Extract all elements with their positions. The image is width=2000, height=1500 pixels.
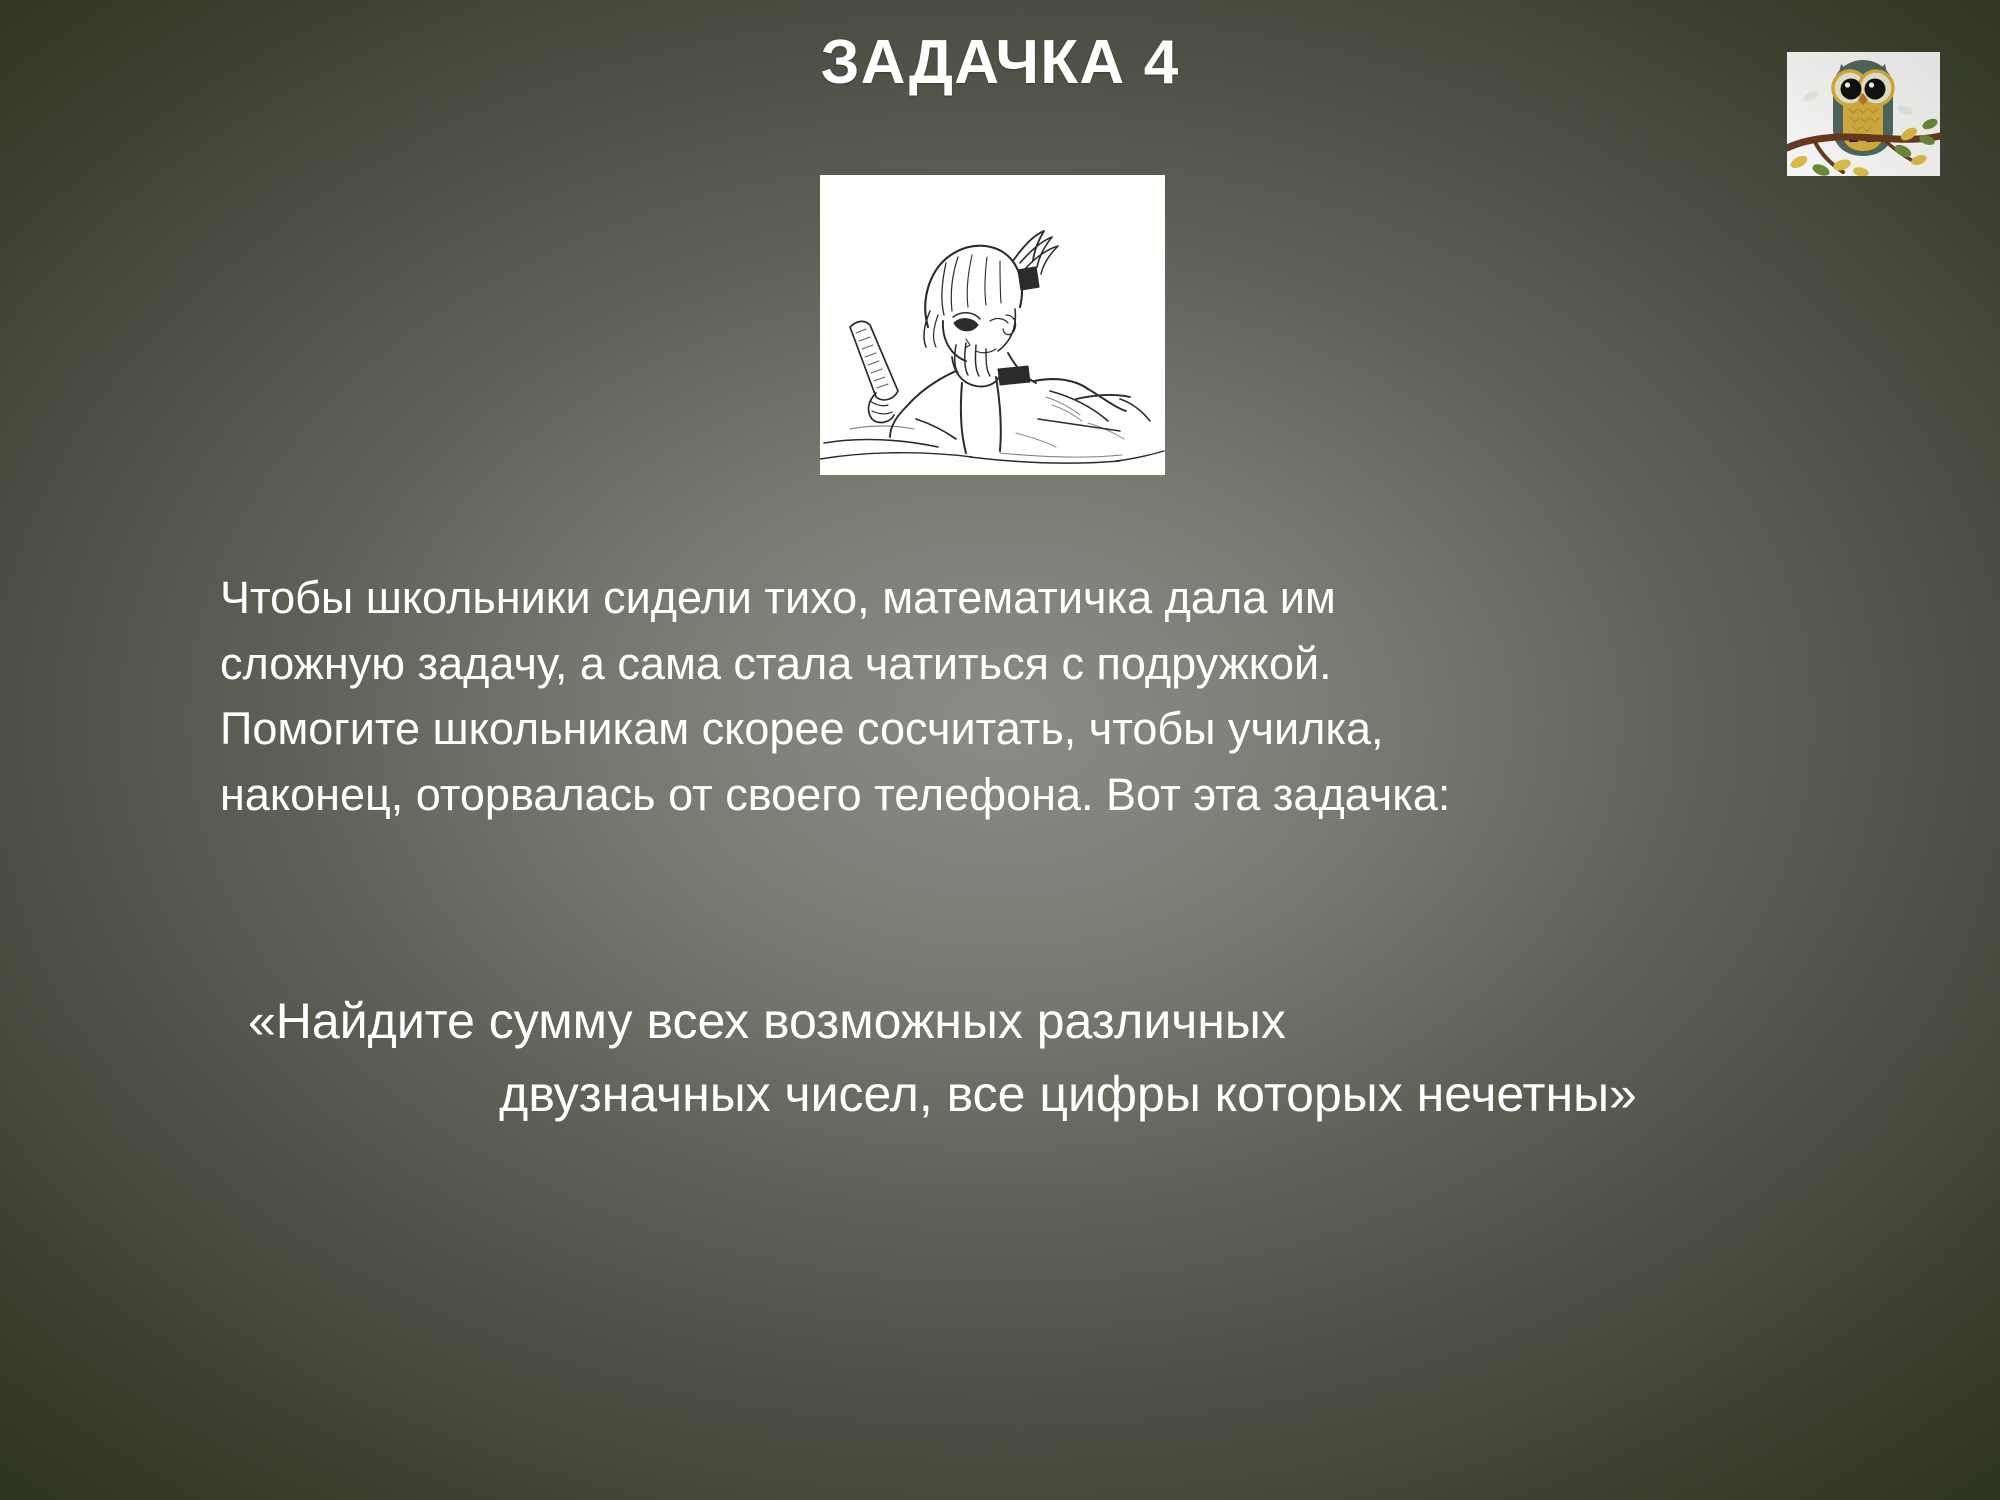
sketch-illustration [820, 175, 1165, 475]
slide-canvas: ЗАДАЧКА 4 [0, 0, 2000, 1500]
page-title: ЗАДАЧКА 4 [0, 30, 2000, 95]
girl-with-phone-sketch [820, 175, 1165, 475]
problem-quote: «Найдите сумму всех возможных различных … [248, 985, 1888, 1131]
body-paragraph: Чтобы школьники сидели тихо, математичка… [220, 565, 1910, 828]
owl-logo [1787, 52, 1940, 176]
quote-line-1: «Найдите сумму всех возможных различных [248, 985, 1888, 1058]
body-line-1: Чтобы школьники сидели тихо, математичка… [220, 565, 1910, 631]
owl-on-branch-icon [1787, 52, 1940, 176]
body-line-4: наконец, оторвалась от своего телефона. … [220, 762, 1910, 828]
quote-line-2: двузначных чисел, все цифры которых нече… [248, 1058, 1888, 1131]
body-line-2: сложную задачу, а сама стала чатиться с … [220, 631, 1910, 697]
body-line-3: Помогите школьникам скорее сосчитать, чт… [220, 696, 1910, 762]
